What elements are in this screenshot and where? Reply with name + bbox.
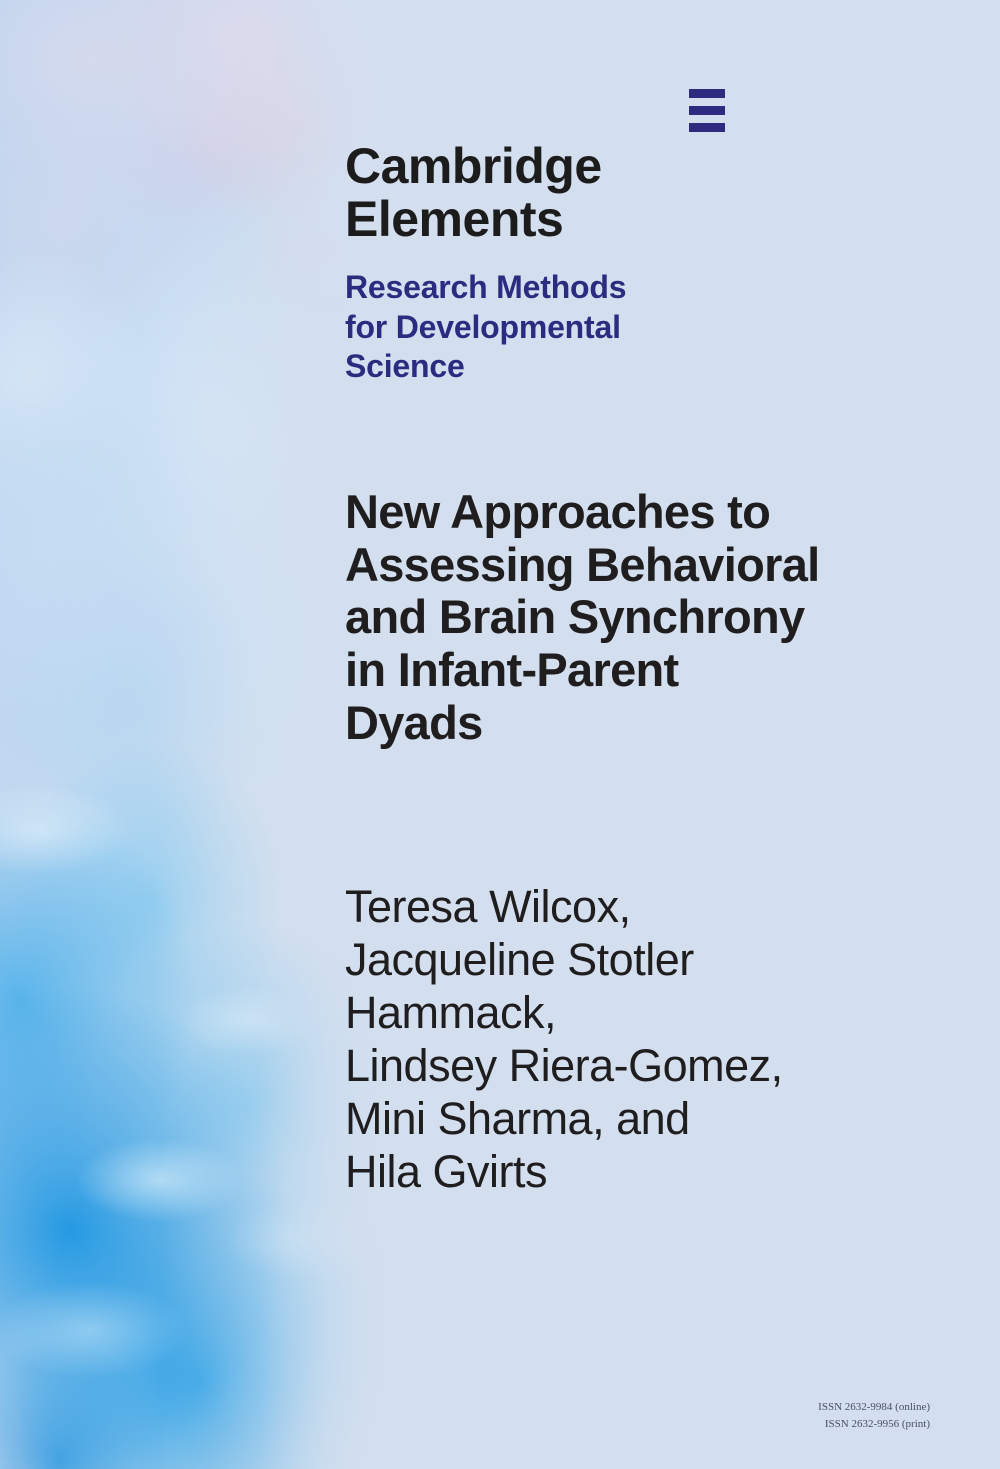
- author-list: Teresa Wilcox, Jacqueline Stotler Hammac…: [345, 880, 965, 1199]
- logo-bar-top: [689, 89, 725, 98]
- issn-online: ISSN 2632-9984 (online): [818, 1399, 930, 1416]
- book-cover: Cambridge Elements Research Methods for …: [0, 0, 1000, 1469]
- author-line-1: Teresa Wilcox,: [345, 880, 965, 933]
- author-line-3: Hammack,: [345, 986, 965, 1039]
- author-line-5: Mini Sharma, and: [345, 1092, 965, 1145]
- book-title: New Approaches to Assessing Behavioral a…: [345, 486, 965, 749]
- author-line-4: Lindsey Riera-Gomez,: [345, 1039, 965, 1092]
- series-line-1: Research Methods: [345, 268, 725, 308]
- series-line-3: Science: [345, 347, 725, 387]
- logo-bar-middle: [689, 106, 725, 115]
- imprint-line-elements: Elements: [345, 193, 945, 246]
- series-name: Research Methods for Developmental Scien…: [345, 268, 725, 387]
- imprint-line-cambridge: Cambridge: [345, 140, 945, 193]
- cambridge-elements-logo-icon: [689, 89, 725, 132]
- cover-content: Cambridge Elements Research Methods for …: [0, 0, 1000, 1469]
- title-line-1: New Approaches to: [345, 486, 965, 539]
- author-line-6: Hila Gvirts: [345, 1145, 965, 1198]
- title-line-4: in Infant-Parent: [345, 644, 965, 697]
- issn-block: ISSN 2632-9984 (online) ISSN 2632-9956 (…: [818, 1399, 930, 1432]
- title-line-5: Dyads: [345, 697, 965, 750]
- issn-print: ISSN 2632-9956 (print): [818, 1416, 930, 1433]
- series-line-2: for Developmental: [345, 308, 725, 348]
- publisher-imprint: Cambridge Elements: [345, 140, 945, 246]
- title-line-3: and Brain Synchrony: [345, 591, 965, 644]
- author-line-2: Jacqueline Stotler: [345, 933, 965, 986]
- title-line-2: Assessing Behavioral: [345, 539, 965, 592]
- logo-bar-bottom: [689, 123, 725, 132]
